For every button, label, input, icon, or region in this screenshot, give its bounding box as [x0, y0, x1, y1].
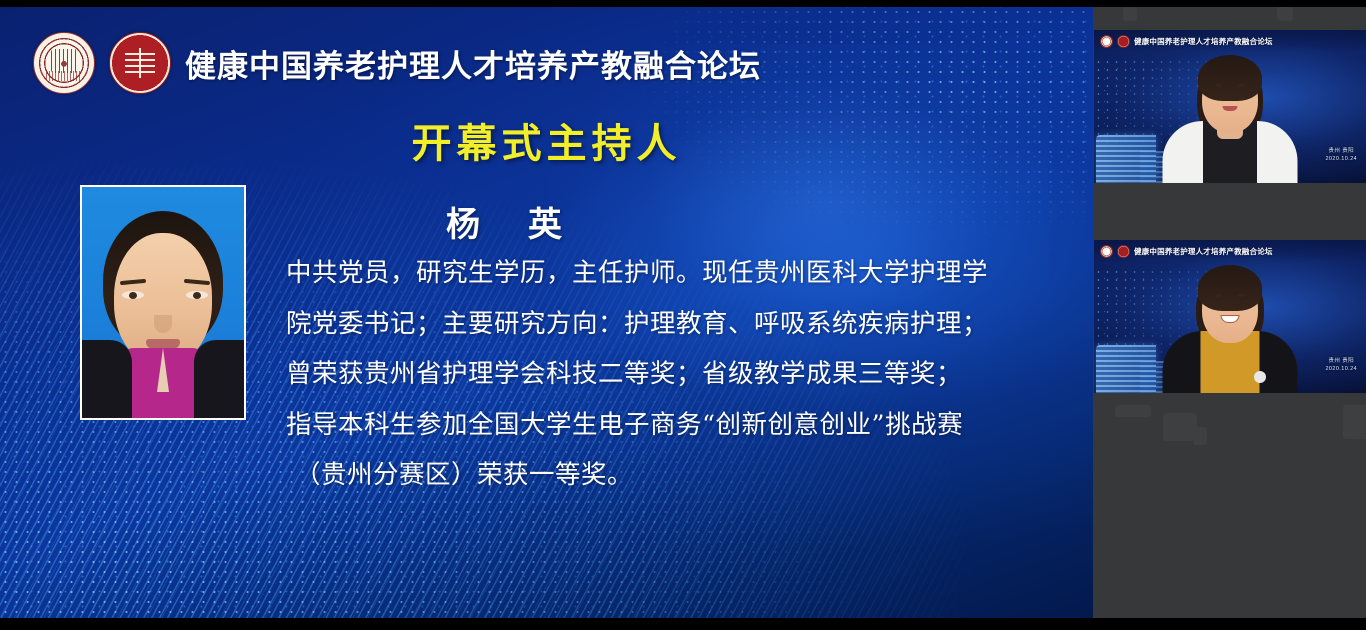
virtual-background-caption: 贵州 贵阳 2020.10.24 [1325, 147, 1357, 164]
bio-line: （贵州分赛区）荣获一等奖。 [286, 463, 1076, 489]
portrait-jacket-left [80, 340, 132, 418]
video-tile-participant-2[interactable]: 健康中国养老护理人才培养产教融合论坛 贵州 贵阳 2020.10.24 [1094, 240, 1366, 393]
video-tile-participant-1[interactable]: 健康中国养老护理人才培养产教融合论坛 贵州 贵阳 2020.10.24 [1094, 30, 1366, 183]
guizhou-medical-university-logo-icon [1100, 35, 1113, 48]
bio-line: 院党委书记；主要研究方向：护理教育、呼吸系统疾病护理； [286, 312, 1076, 338]
caption-location: 贵州 贵阳 [1325, 357, 1357, 365]
letterbox-bar-bottom [0, 618, 1366, 630]
participant-hair [1198, 265, 1262, 311]
guizhou-medical-university-logo-icon [33, 32, 95, 94]
guizhou-medical-university-logo-icon [1100, 245, 1113, 258]
portrait-jacket-right [194, 340, 246, 418]
bio-line: 曾荣获贵州省护理学会科技二等奖；省级教学成果三等奖； [286, 362, 1076, 388]
virtual-background-banner: 健康中国养老护理人才培养产教融合论坛 [1094, 30, 1366, 52]
portrait-eye-right [186, 291, 208, 299]
speaker-name: 杨 英 [446, 197, 580, 246]
peking-university-logo-icon [1117, 35, 1130, 48]
participant-eye-left [1215, 84, 1222, 87]
peking-university-logo-icon [109, 32, 171, 94]
participant-eye-right [1238, 84, 1245, 87]
forum-title: 健康中国养老护理人才培养产教融合论坛 [185, 41, 761, 86]
caption-date: 2020.10.24 [1325, 155, 1357, 163]
letterbox-bar-top [0, 0, 1366, 7]
portrait-eye-left [122, 291, 144, 299]
empty-tile-placeholder [1123, 7, 1137, 21]
participant-hair [1198, 55, 1262, 101]
shared-screen-slide[interactable]: 健康中国养老护理人才培养产教融合论坛 开幕式主持人 杨 英 中共党员，研究生学历… [0, 7, 1093, 618]
virtual-background-building [1096, 345, 1156, 393]
slide-header: 健康中国养老护理人才培养产教融合论坛 [33, 32, 761, 94]
participant-eye-right [1238, 294, 1245, 297]
speaker-portrait-photo [80, 185, 246, 420]
virtual-background-banner-title: 健康中国养老护理人才培养产教融合论坛 [1134, 36, 1273, 47]
empty-tile-placeholder [1163, 413, 1197, 441]
caption-date: 2020.10.24 [1325, 365, 1357, 373]
empty-tile-placeholder [1277, 7, 1293, 21]
peking-university-logo-icon [1117, 245, 1130, 258]
empty-tile-placeholder [1193, 427, 1207, 445]
participant-eye-left [1215, 294, 1222, 297]
bio-line: 中共党员，研究生学历，主任护师。现任贵州医科大学护理学 [286, 261, 1076, 287]
slide-subtitle: 开幕式主持人 [0, 111, 1093, 169]
speaker-bio: 中共党员，研究生学历，主任护师。现任贵州医科大学护理学 院党委书记；主要研究方向… [286, 261, 1076, 514]
empty-tile-placeholder [1115, 405, 1151, 417]
virtual-background-building [1096, 135, 1156, 183]
screen-root: 健康中国养老护理人才培养产教融合论坛 开幕式主持人 杨 英 中共党员，研究生学历… [0, 0, 1366, 630]
bio-line: 指导本科生参加全国大学生电子商务“创新创意创业”挑战赛 [286, 413, 1076, 439]
caption-location: 贵州 贵阳 [1325, 147, 1357, 155]
virtual-background-banner: 健康中国养老护理人才培养产教融合论坛 [1094, 240, 1366, 262]
participant-lapel-pin [1254, 371, 1266, 383]
empty-tile-placeholder [1343, 405, 1366, 439]
virtual-background-caption: 贵州 贵阳 2020.10.24 [1325, 357, 1357, 374]
virtual-background-banner-title: 健康中国养老护理人才培养产教融合论坛 [1134, 246, 1273, 257]
portrait-nose [154, 315, 172, 333]
